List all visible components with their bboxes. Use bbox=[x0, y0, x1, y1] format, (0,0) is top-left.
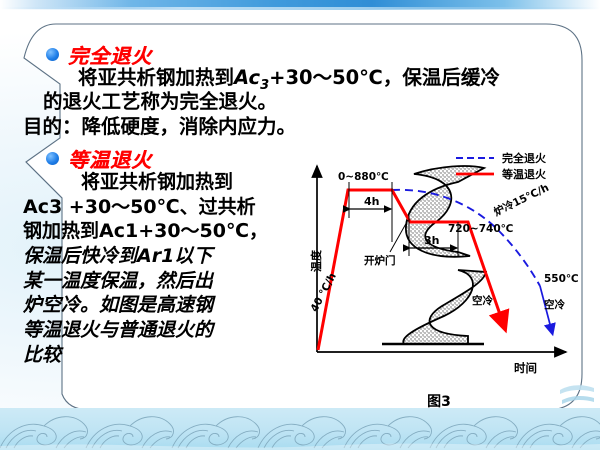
symbol-ac3: Ac bbox=[234, 66, 260, 89]
slide-canvas: 完全退火 将亚共析钢加热到Ac3+30～50℃，保温后缓冷 的退火工艺称为完全退… bbox=[0, 0, 600, 450]
annotation-end-temp: 550℃ bbox=[544, 273, 579, 285]
text-line: 比较 bbox=[23, 343, 268, 368]
ttt-c-curve-lower bbox=[403, 270, 486, 344]
chart-svg: 完全退火 等温退火 0~880℃ 4h 3h 40 ℃/h 开炉门 720~74… bbox=[308, 152, 584, 407]
legend-label-isothermal-annealing: 等温退火 bbox=[501, 167, 547, 181]
annotation-air-cool-blue: 空冷 bbox=[544, 298, 565, 311]
annotation-peak-temp: 0~880℃ bbox=[338, 171, 389, 183]
section-heading-isothermal-annealing: 等温退火 bbox=[46, 144, 152, 173]
text-run: 将亚共析钢加热到 bbox=[78, 66, 234, 89]
text-line: 某一温度保温，然后出 bbox=[23, 269, 268, 294]
text-line: Ac3 +30～50℃、过共析 bbox=[23, 195, 268, 220]
text-line: 等温退火与普通退火的 bbox=[23, 318, 268, 343]
ttt-c-curve-upper bbox=[406, 166, 484, 257]
annotation-open-door: 开炉门 bbox=[364, 254, 396, 267]
corner-flourish-decoration bbox=[556, 380, 596, 414]
paragraph-full-annealing-line2: 的退火工艺称为完全退火。 bbox=[43, 90, 277, 114]
bullet-icon bbox=[46, 152, 59, 165]
annotation-heating-rate: 40 ℃/h bbox=[308, 271, 338, 314]
wave-pattern bbox=[0, 408, 600, 450]
heading-label: 完全退火 bbox=[68, 40, 152, 69]
annotation-iso-temp: 720~740℃ bbox=[448, 223, 513, 235]
annotation-air-cool-red: 空冷 bbox=[472, 294, 493, 307]
top-accent-bar bbox=[0, 0, 600, 9]
text-line: 保温后快冷到Ar1以下 bbox=[23, 244, 268, 269]
figure-annealing-chart: 完全退火 等温退火 0~880℃ 4h 3h 40 ℃/h 开炉门 720~74… bbox=[308, 152, 584, 407]
wave-decoration-band bbox=[0, 408, 600, 450]
text-line: 钢加热到Ac1+30～50℃， bbox=[23, 219, 268, 244]
bullet-icon bbox=[46, 48, 59, 61]
annotation-hold-4h: 4h bbox=[364, 195, 380, 208]
annotation-furnace-cool: 炉冷15℃/h bbox=[492, 181, 551, 219]
text-line: 炉空冷。如图是高速钢 bbox=[23, 293, 268, 318]
paragraph-isothermal-annealing: 将亚共析钢加热到 Ac3 +30～50℃、过共析 钢加热到Ac1+30～50℃，… bbox=[23, 170, 268, 368]
x-axis-label: 时间 bbox=[514, 361, 537, 375]
text-run: +30～50℃，保温后缓冷 bbox=[269, 66, 500, 89]
legend-label-full-annealing: 完全退火 bbox=[502, 152, 547, 165]
text-line: 将亚共析钢加热到 bbox=[23, 170, 268, 195]
content-panel: 完全退火 将亚共析钢加热到Ac3+30～50℃，保温后缓冷 的退火工艺称为完全退… bbox=[18, 22, 584, 412]
section-heading-full-annealing: 完全退火 bbox=[46, 40, 152, 69]
heading-label: 等温退火 bbox=[68, 144, 152, 173]
annotation-hold-3h: 3h bbox=[424, 234, 440, 247]
y-axis-label: 温度 bbox=[309, 249, 323, 272]
paragraph-full-annealing-purpose: 目的：降低硬度，消除内应力。 bbox=[23, 115, 296, 139]
leader-open-door bbox=[390, 220, 408, 252]
